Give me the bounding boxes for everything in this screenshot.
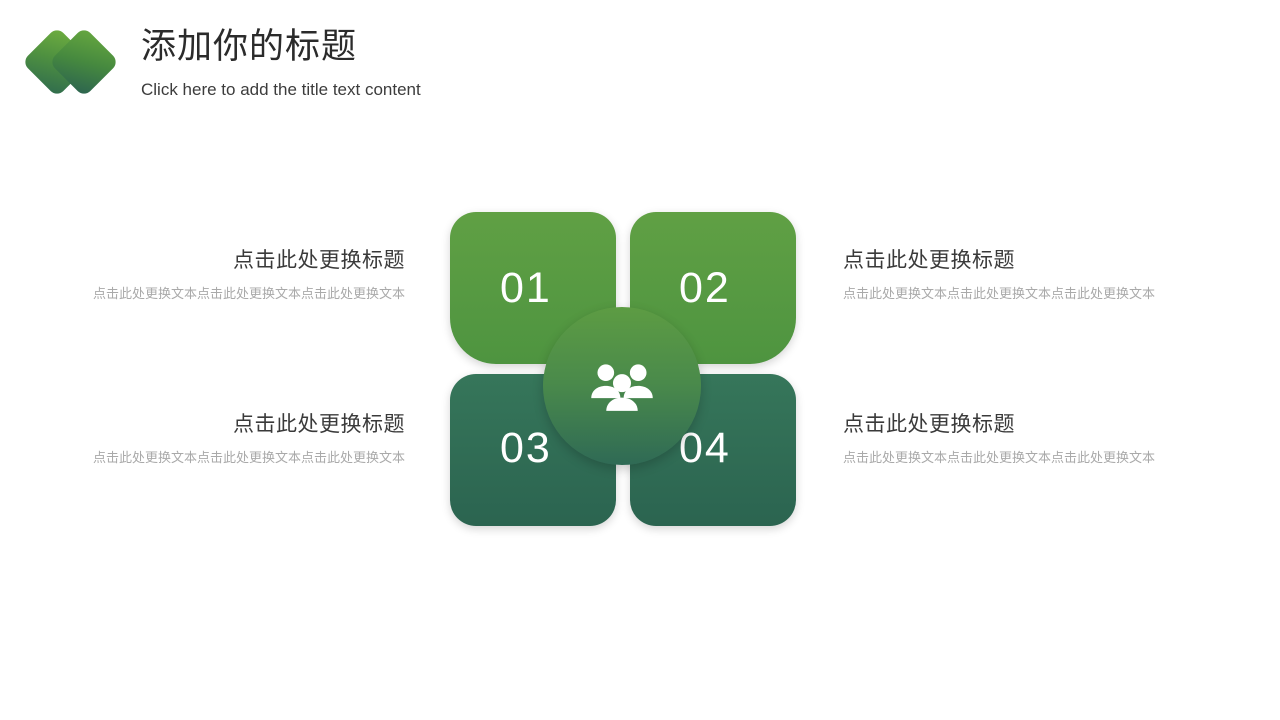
tile-number: 01 — [500, 267, 552, 310]
caption-title[interactable]: 点击此处更换标题 — [843, 246, 1156, 276]
caption-body[interactable]: 点击此处更换文本点击此处更换文本点击此处更换文本 — [92, 283, 405, 305]
caption-title[interactable]: 点击此处更换标题 — [92, 410, 405, 440]
overlapping-diamonds-logo — [28, 26, 128, 98]
tile-number: 03 — [500, 427, 552, 470]
caption-top-right: 点击此处更换标题 点击此处更换文本点击此处更换文本点击此处更换文本 — [843, 246, 1156, 305]
page-title[interactable]: 添加你的标题 — [141, 24, 421, 70]
caption-title[interactable]: 点击此处更换标题 — [92, 246, 405, 276]
slide-header: 添加你的标题 Click here to add the title text … — [0, 0, 1280, 130]
page-subtitle[interactable]: Click here to add the title text content — [141, 77, 421, 103]
caption-bottom-right: 点击此处更换标题 点击此处更换文本点击此处更换文本点击此处更换文本 — [843, 410, 1156, 469]
caption-body[interactable]: 点击此处更换文本点击此处更换文本点击此处更换文本 — [843, 447, 1156, 469]
people-group-icon — [585, 349, 659, 423]
tile-number: 04 — [679, 427, 731, 470]
caption-body[interactable]: 点击此处更换文本点击此处更换文本点击此处更换文本 — [843, 283, 1156, 305]
caption-body[interactable]: 点击此处更换文本点击此处更换文本点击此处更换文本 — [92, 447, 405, 469]
four-quadrant-diagram: 01 02 03 04 — [450, 212, 796, 526]
caption-title[interactable]: 点击此处更换标题 — [843, 410, 1156, 440]
caption-top-left: 点击此处更换标题 点击此处更换文本点击此处更换文本点击此处更换文本 — [92, 246, 405, 305]
tile-number: 02 — [679, 267, 731, 310]
header-text-group: 添加你的标题 Click here to add the title text … — [141, 24, 421, 103]
diagram-center-badge[interactable] — [543, 307, 701, 465]
caption-bottom-left: 点击此处更换标题 点击此处更换文本点击此处更换文本点击此处更换文本 — [92, 410, 405, 469]
